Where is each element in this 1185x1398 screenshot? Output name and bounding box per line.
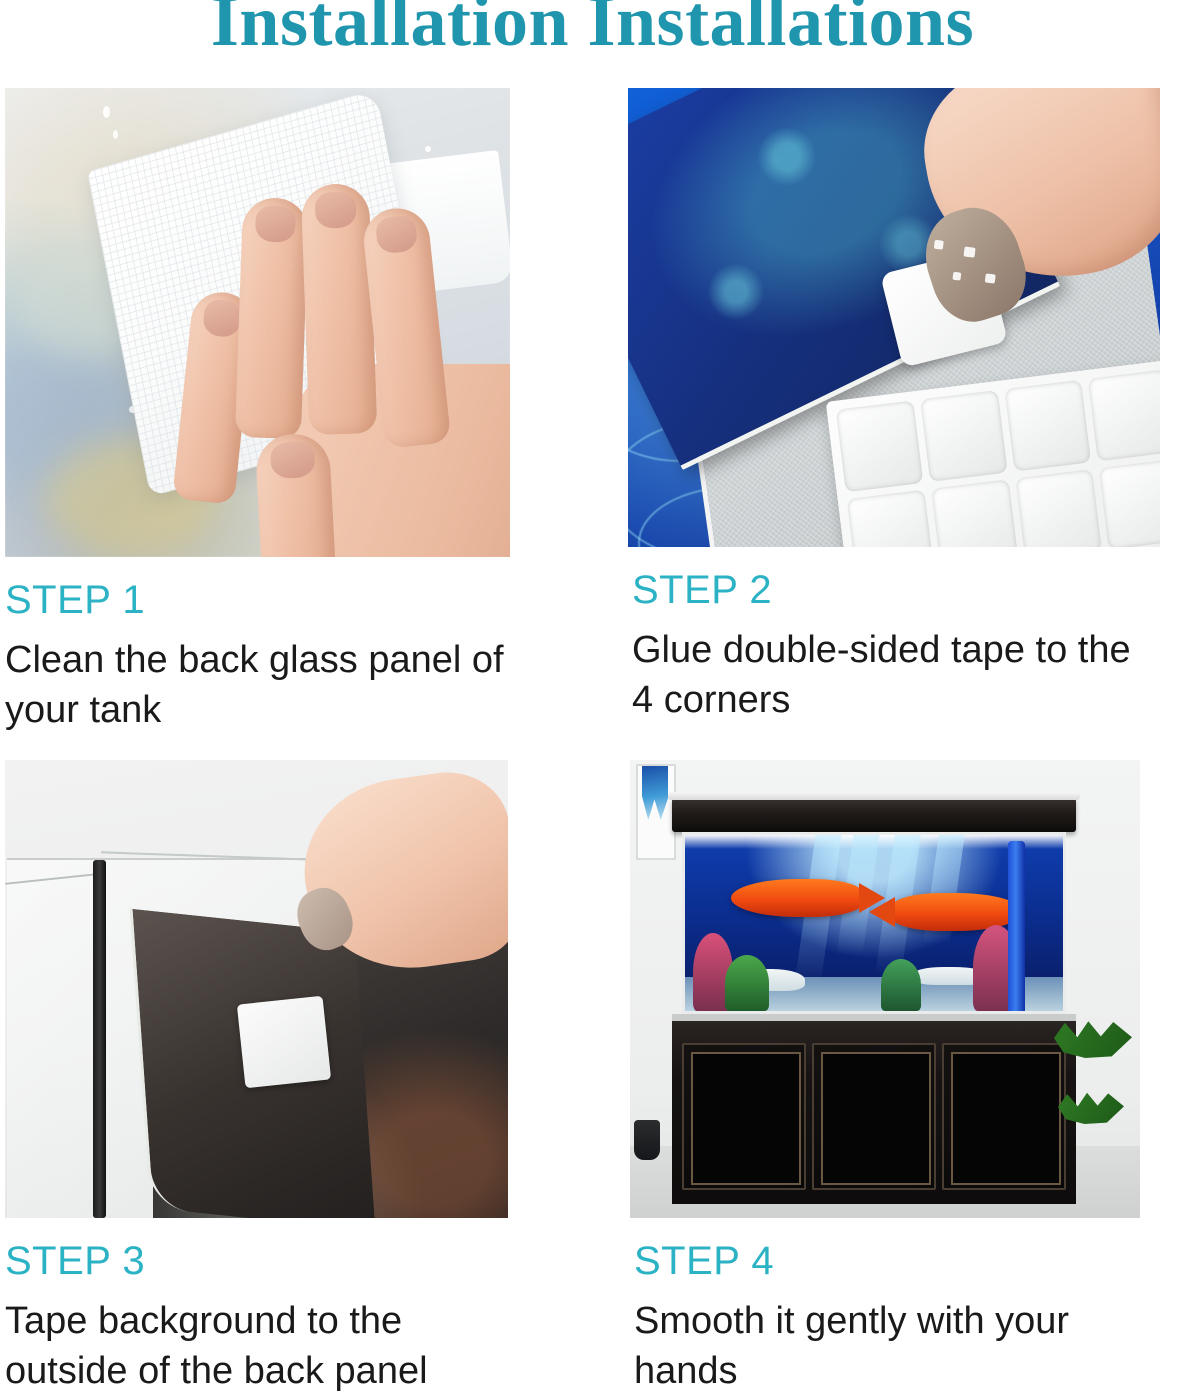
finger — [235, 197, 309, 439]
aquarium-cabinet — [672, 1014, 1076, 1204]
glitter-fleck — [985, 273, 996, 283]
cabinet-door-panel — [951, 1052, 1061, 1185]
step-3-description: Tape background to the outside of the ba… — [5, 1296, 508, 1396]
double-sided-tape-square — [237, 996, 331, 1089]
aquarium-tank — [682, 832, 1066, 1014]
tank-corner-trim — [93, 860, 106, 1218]
glitter-fleck — [934, 240, 944, 250]
aquarium-plant — [881, 959, 921, 1011]
step-card-4: STEP 4 Smooth it gently with your hands — [630, 760, 1140, 1396]
water-droplet — [113, 130, 118, 139]
page-title: Installation Installations — [211, 0, 974, 58]
aquarium-hood — [672, 798, 1076, 832]
step-4-description: Smooth it gently with your hands — [634, 1296, 1139, 1396]
step-card-1: STEP 1 Clean the back glass panel of you… — [5, 88, 510, 735]
aquarium-plant — [725, 955, 769, 1011]
side-vase — [634, 1120, 660, 1160]
arowana-fish — [731, 879, 863, 917]
step-3-photo — [5, 760, 508, 1218]
finger — [301, 183, 378, 435]
adhesive-pad — [1099, 458, 1160, 547]
glitter-fleck — [963, 246, 975, 257]
fingernail — [375, 215, 418, 255]
fingernail — [315, 191, 357, 228]
adhesive-pad — [1088, 369, 1160, 460]
installation-guide-page: Installation Installations — [0, 0, 1185, 1398]
thumb — [255, 432, 338, 557]
cabinet-door[interactable] — [942, 1043, 1066, 1190]
page-title-band: Installation Installations — [0, 0, 1185, 58]
step-1-photo — [5, 88, 510, 557]
fingernail — [202, 299, 243, 339]
step-1-description: Clean the back glass panel of your tank — [5, 635, 510, 735]
adhesive-pad — [931, 479, 1018, 547]
fingernail — [270, 441, 316, 479]
water-droplet — [425, 146, 431, 152]
adhesive-pad — [836, 400, 923, 491]
step-4-photo — [630, 760, 1140, 1218]
cabinet-door-panel — [821, 1052, 931, 1185]
filter-intake-tube — [1008, 841, 1025, 1014]
step-card-2: STEP 2 Glue double-sided tape to the 4 c… — [628, 88, 1160, 725]
cabinet-door[interactable] — [682, 1043, 806, 1190]
step-1-label: STEP 1 — [5, 579, 510, 621]
step-2-label: STEP 2 — [632, 569, 1160, 611]
hand — [155, 184, 510, 557]
fingernail — [255, 205, 296, 242]
framed-wall-picture — [636, 764, 676, 860]
wall-picture-art — [642, 766, 668, 820]
adhesive-pad — [1004, 380, 1091, 471]
arowana-fish — [891, 893, 1023, 931]
step-card-3: STEP 3 Tape background to the outside of… — [5, 760, 508, 1396]
cabinet-door[interactable] — [812, 1043, 936, 1190]
adhesive-pad — [1015, 469, 1102, 547]
water-droplet — [103, 106, 110, 118]
adhesive-pad — [920, 390, 1007, 481]
cabinet-door-panel — [691, 1052, 801, 1185]
step-2-photo — [628, 88, 1160, 547]
glitter-fleck — [952, 272, 961, 281]
step-4-label: STEP 4 — [634, 1240, 1140, 1282]
adhesive-pad — [847, 489, 934, 547]
step-3-label: STEP 3 — [5, 1240, 508, 1282]
step-2-description: Glue double-sided tape to the 4 corners — [632, 625, 1137, 725]
